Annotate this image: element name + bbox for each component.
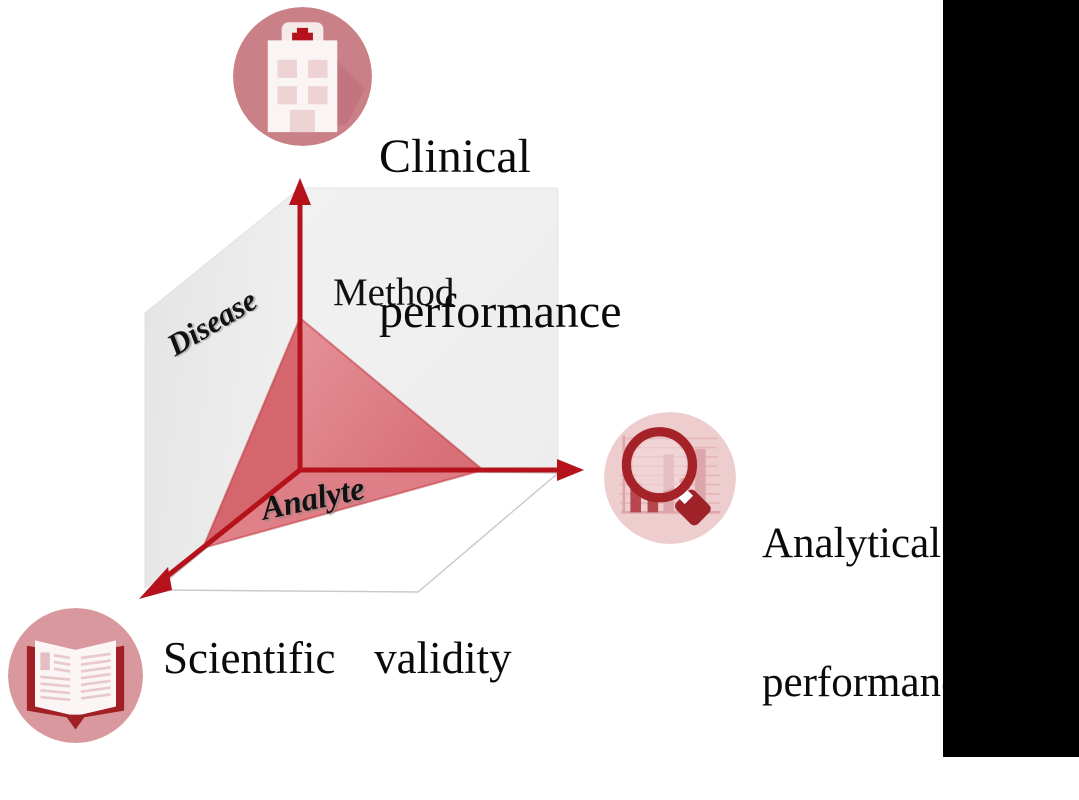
clinical-line2: performance (379, 286, 622, 338)
magnifier-chart-icon (604, 412, 736, 544)
right-black-occlusion-band (943, 0, 1079, 757)
scientific-space (335, 633, 374, 683)
figure-canvas: Method Disease Analyte Clinical performa… (0, 0, 1079, 757)
clinical-performance-label: Clinical performance (379, 27, 622, 442)
axis-right-arrowhead (557, 459, 584, 481)
hospital-icon (233, 7, 372, 146)
scientific-validity-label: Scientific validity (163, 634, 512, 683)
scientific-line1: Scientific (163, 633, 335, 683)
open-book-icon (8, 608, 143, 743)
scientific-line2: validity (374, 633, 511, 683)
clinical-line1: Clinical (379, 131, 622, 183)
